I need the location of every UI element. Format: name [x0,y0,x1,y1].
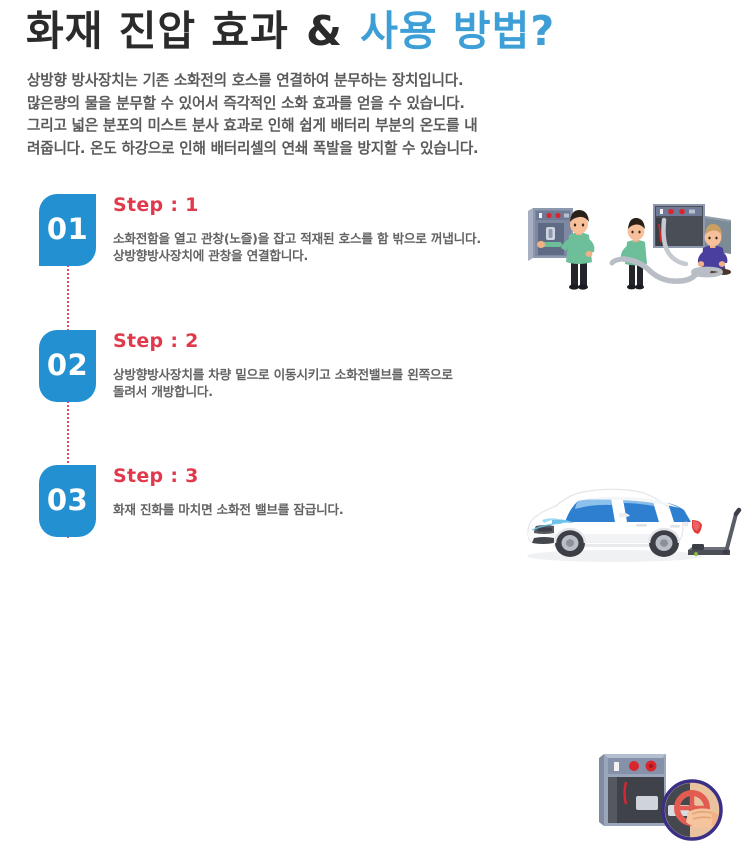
intro-line-3: 그리고 넓은 분포의 미스트 분사 효과로 인해 쉽게 배터리 부분의 온도를 … [27,115,637,138]
step-description-2-line-2: 돌려서 개방합니다. [113,383,543,400]
step-badge-01: 01 [39,194,96,266]
step-badge-03: 03 [39,465,96,537]
page-title: 화재 진압 효과 & 사용 방법? [26,6,555,57]
step-label-2: Step : 2 [113,330,199,352]
page-title-blue-text: 사용 방법? [360,7,555,55]
step-label-3: Step : 3 [113,465,199,487]
step-item-1: 01 Step : 1 소화전함을 열고 관창(노즐)을 잡고 적재된 호스를 … [0,194,743,304]
step-label-1: Step : 1 [113,194,199,216]
intro-line-2: 많은량의 물을 분무할 수 있어서 즉각적인 소화 효과를 얻을 수 있습니다. [27,93,637,116]
step-description-2: 상방향방사장치를 차량 밑으로 이동시키고 소화전밸브를 왼쪽으로 돌려서 개방… [113,366,543,400]
step-description-3: 화재 진화를 마치면 소화전 밸브를 잠급니다. [113,501,543,518]
step-description-3-line-1: 화재 진화를 마치면 소화전 밸브를 잠급니다. [113,501,543,518]
page-title-ampersand: & [304,7,345,55]
intro-paragraph: 상방향 방사장치는 기존 소화전의 호스를 연결하여 분무하는 장치입니다. 많… [27,70,637,160]
intro-line-4: 려줍니다. 온도 하강으로 인해 배터리셀의 연쇄 폭발을 방지할 수 있습니다… [27,138,637,161]
step-description-2-line-1: 상방향방사장치를 차량 밑으로 이동시키고 소화전밸브를 왼쪽으로 [113,366,543,383]
page-title-dark-text: 화재 진압 효과 [26,7,289,55]
intro-line-1: 상방향 방사장치는 기존 소화전의 호스를 연결하여 분무하는 장치입니다. [27,70,637,93]
step-badge-02: 02 [39,330,96,402]
step-description-1-line-1: 소화전함을 열고 관창(노즐)을 잡고 적재된 호스를 함 밖으로 꺼냅니다. [113,230,543,247]
step-description-1: 소화전함을 열고 관창(노즐)을 잡고 적재된 호스를 함 밖으로 꺼냅니다. … [113,230,543,264]
step-description-1-line-2: 상방향방사장치에 관창을 연결합니다. [113,247,543,264]
hydrant-cabinet-hose-people-illustration [525,202,740,294]
steps-section: 01 Step : 1 소화전함을 열고 관창(노즐)을 잡고 적재된 호스를 … [0,180,743,559]
hydrant-valve-closing-hand-illustration [596,748,741,848]
step-item-2: 02 Step : 2 상방향방사장치를 차량 밑으로 이동시키고 소화전밸브를… [0,330,743,440]
